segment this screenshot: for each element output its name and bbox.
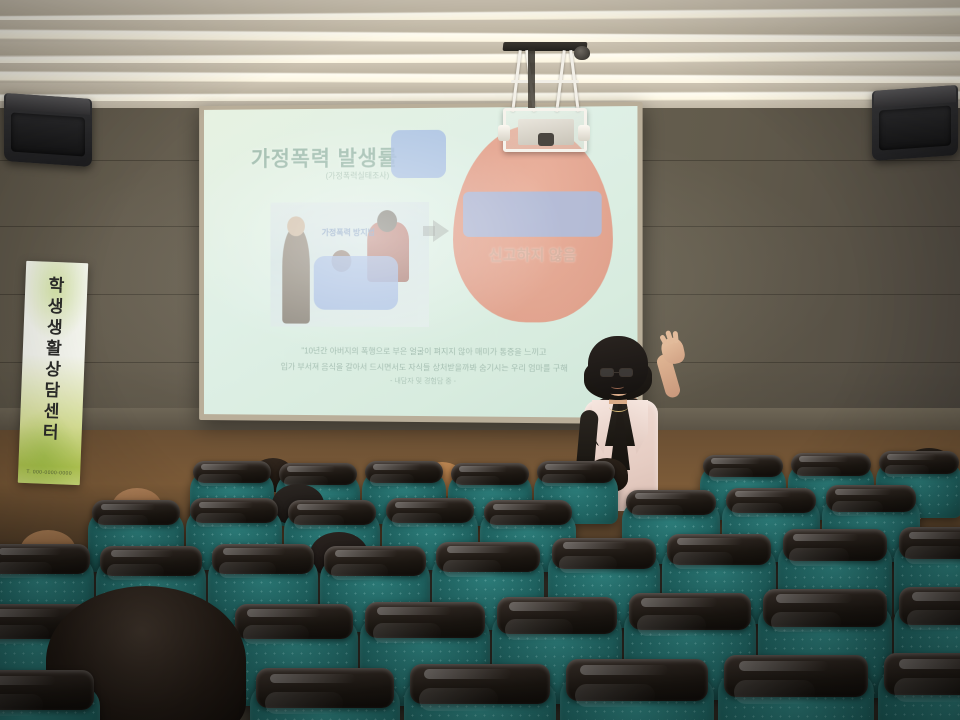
projector-cage xyxy=(503,108,587,152)
glasses-icon-left xyxy=(600,368,614,377)
projector-lift-arms xyxy=(511,50,579,112)
redaction-box-photo xyxy=(314,256,398,310)
stat-blob-label: 신고하지 않음 xyxy=(467,244,599,265)
glasses-icon-right xyxy=(619,368,633,377)
wall-speaker-right xyxy=(872,85,958,161)
ceiling-projector xyxy=(495,42,595,152)
slide-subtitle: (가정폭력실태조사) xyxy=(326,170,390,181)
presenter-smile xyxy=(611,384,624,389)
banner-char-4: 상 xyxy=(45,360,61,380)
wall-speaker-left xyxy=(4,93,92,167)
projector-body xyxy=(518,119,574,145)
slide-title: 가정폭력 발생률 xyxy=(251,142,398,173)
seat xyxy=(878,670,960,720)
banner-char-3: 활 xyxy=(46,339,62,359)
projector-lens-icon xyxy=(538,133,554,146)
seat xyxy=(0,686,100,720)
banner-char-2: 생 xyxy=(47,318,63,338)
seat xyxy=(718,672,874,720)
banner-char-0: 학 xyxy=(48,276,64,296)
ceiling xyxy=(0,0,960,112)
banner-char-6: 센 xyxy=(43,402,59,422)
banner-title: 학 생 생 활 상 담 센 터 xyxy=(19,275,87,444)
slide-photo-caption: 가정폭력 방지법 xyxy=(322,227,375,238)
projector-cable xyxy=(528,48,535,110)
arrow-right-icon xyxy=(433,220,449,242)
banner-char-5: 담 xyxy=(44,381,60,401)
lecture-hall-photo: 가정폭력 발생률 (가정폭력실태조사) 가정폭력 방지법 신고하지 않음 xyxy=(0,0,960,720)
redaction-box-title xyxy=(391,130,446,178)
seat xyxy=(250,684,400,720)
seat xyxy=(560,676,714,720)
redaction-box-stat xyxy=(463,191,602,237)
audience-seating xyxy=(0,440,960,720)
seat xyxy=(404,680,556,720)
banner-char-1: 생 xyxy=(47,297,63,317)
